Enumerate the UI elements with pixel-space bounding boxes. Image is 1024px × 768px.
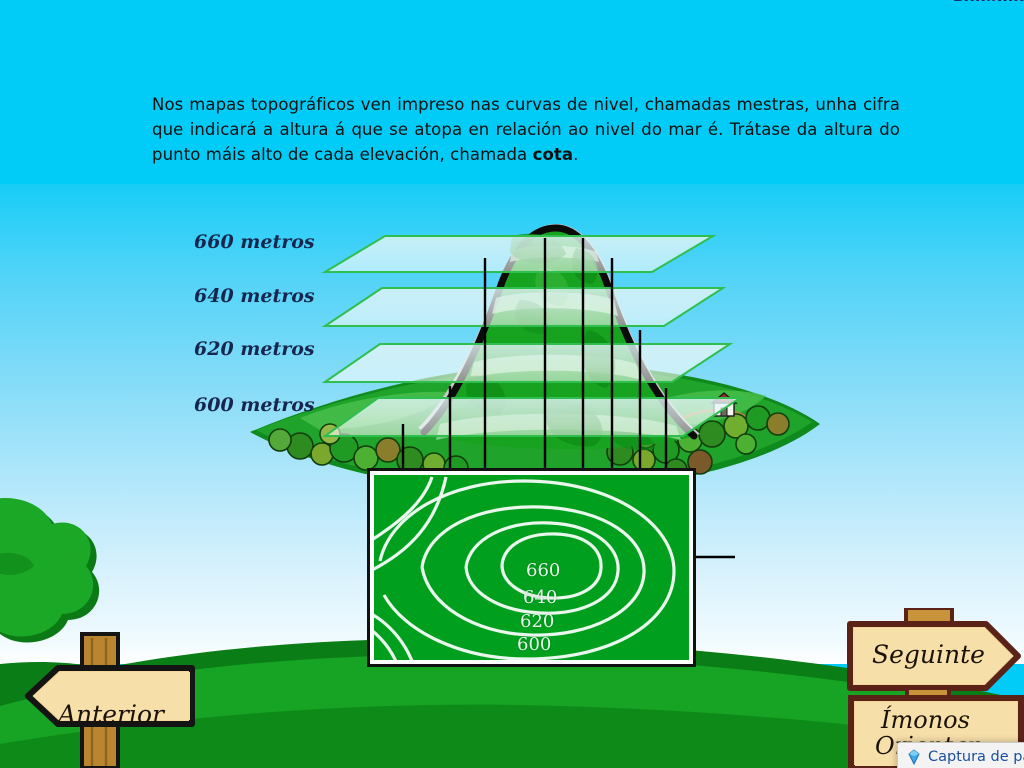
plane-640 xyxy=(325,288,723,326)
next-button-label[interactable]: Seguinte xyxy=(872,640,985,669)
plane-600 xyxy=(325,398,740,436)
section-button-label-line1[interactable]: Ímonos xyxy=(881,706,970,734)
altitude-label-620: 620 metros xyxy=(194,338,315,360)
altitude-label-600: 600 metros xyxy=(194,394,315,416)
previous-signpost-graphic[interactable] xyxy=(20,620,240,768)
contour-value-640: 640 xyxy=(523,587,557,608)
previous-button[interactable]: Anterior xyxy=(20,620,240,768)
notification-header: Captura de pantalla xyxy=(906,749,1024,765)
contour-value-620: 620 xyxy=(520,611,554,632)
lesson-slide: Poñámonos Nos mapas topográficos ven imp… xyxy=(0,0,1024,768)
contour-map: 660 640 620 600 xyxy=(367,468,696,667)
screenshot-notification[interactable]: Captura de pantalla Se ha añadido una ca… xyxy=(897,742,1024,768)
notification-title: Captura de pantalla xyxy=(928,749,1024,765)
contour-map-canvas: 660 640 620 600 xyxy=(374,475,689,660)
previous-button-label[interactable]: Anterior xyxy=(58,700,164,729)
gem-icon xyxy=(906,749,922,765)
altitude-label-660: 660 metros xyxy=(194,231,315,253)
contour-value-660: 660 xyxy=(526,560,560,581)
altitude-label-640: 640 metros xyxy=(194,285,315,307)
plane-620 xyxy=(325,344,730,382)
plane-660 xyxy=(325,236,713,272)
contour-value-600: 600 xyxy=(517,634,551,655)
